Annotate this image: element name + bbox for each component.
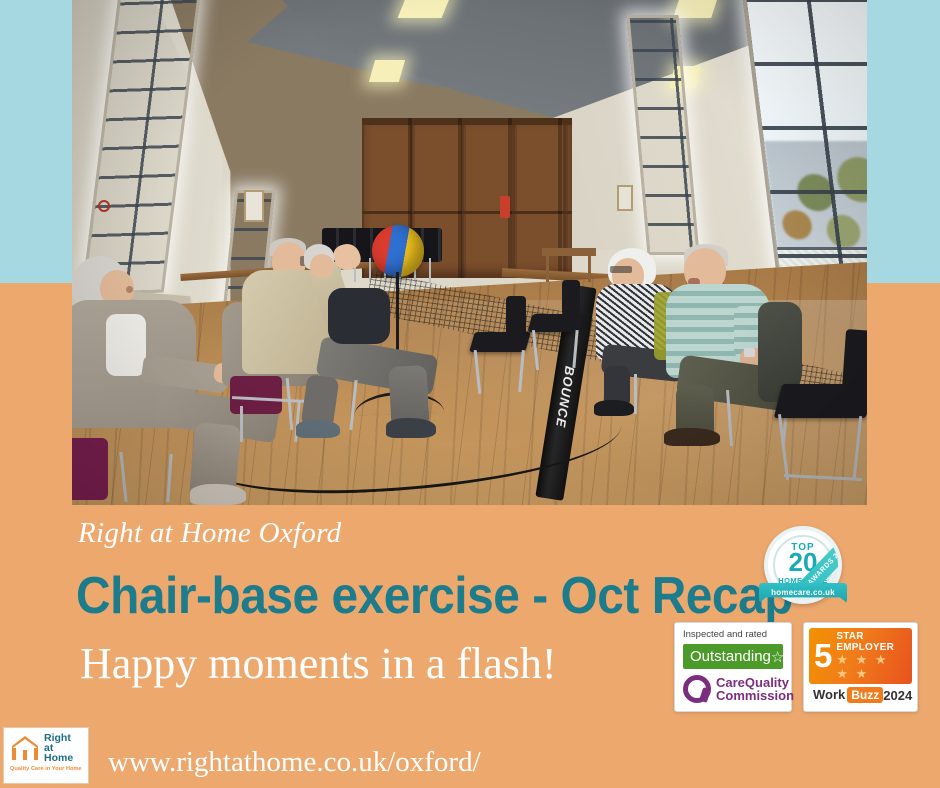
brand-line: Right at Home Oxford (78, 517, 341, 550)
social-post-canvas: BOUNCE (0, 0, 940, 788)
workbuzz-wordmark: WorkBuzz (813, 686, 883, 704)
logo-tagline: Quality Care in Your Home (10, 766, 82, 772)
badge-care-quality-commission: Inspected and rated Outstanding ☆ CareQu… (674, 622, 792, 712)
star-rating-icon: ★ ★ ★ ★ ★ (836, 653, 907, 681)
house-icon (10, 733, 40, 763)
cqc-name: CareQuality Commission (716, 676, 794, 702)
workbuzz-rating-panel: 5 STAR EMPLOYER ★ ★ ★ ★ ★ (809, 628, 912, 684)
photo-vignette (72, 0, 867, 505)
badge-top20-homecare: TOP 20 HOME CARE GROUP AWARDS 2024 homec… (759, 526, 847, 608)
logo-wordmark: Right at Home (44, 733, 73, 763)
cqc-rating-label: Outstanding (690, 648, 771, 665)
cqc-inspected-text: Inspected and rated (683, 629, 783, 640)
workbuzz-year: 2024 (883, 688, 912, 703)
star-outline-icon: ☆ (771, 648, 784, 666)
workbuzz-right: STAR EMPLOYER ★ ★ ★ ★ ★ (836, 631, 907, 681)
workbuzz-work: Work (813, 687, 845, 702)
cqc-logo: CareQuality Commission (683, 675, 783, 703)
website-url[interactable]: www.rightathome.co.uk/oxford/ (108, 746, 481, 779)
logo-row: Right at Home (10, 733, 82, 763)
badge-workbuzz-5-star-employer: 5 STAR EMPLOYER ★ ★ ★ ★ ★ WorkBuzz 2024 (803, 622, 918, 712)
hall-photo: BOUNCE (72, 0, 867, 505)
workbuzz-title: STAR EMPLOYER (836, 631, 907, 653)
cqc-q-icon (683, 675, 711, 703)
logo-line-3: Home (44, 753, 73, 763)
right-at-home-logo[interactable]: Right at Home Quality Care in Your Home (3, 727, 89, 784)
page-title: Chair-base exercise - Oct Recap (76, 566, 793, 626)
subtitle: Happy moments in a flash! (80, 638, 557, 689)
cqc-rating-bar: Outstanding ☆ (683, 644, 783, 669)
cqc-name-line2: Commission (716, 688, 794, 703)
workbuzz-footer: WorkBuzz 2024 (809, 684, 912, 706)
workbuzz-number: 5 (814, 641, 832, 671)
workbuzz-buzz: Buzz (847, 687, 883, 703)
